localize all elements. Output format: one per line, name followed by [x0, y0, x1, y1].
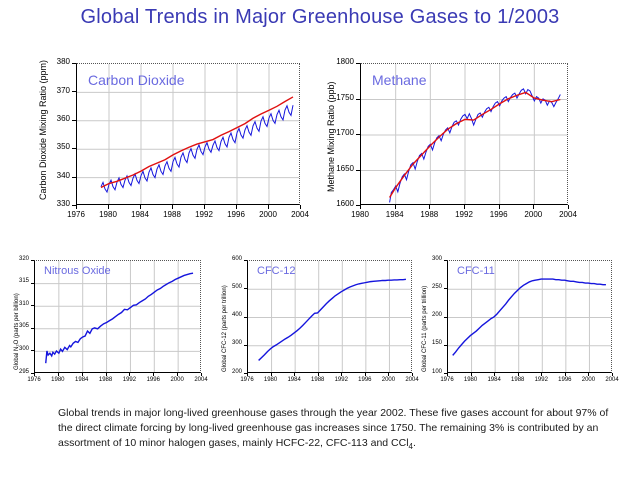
y-axis-label-cfc-11: Global CFC-11 (parts per trillion) — [422, 286, 428, 372]
x-tick-mark — [388, 373, 389, 376]
y-tick-label: 100 — [428, 369, 442, 375]
x-tick-label: 2000 — [250, 210, 286, 219]
series-label-cfc-11: CFC-11 — [457, 265, 495, 277]
y-tick-label: 360 — [50, 114, 70, 123]
x-tick-mark — [268, 205, 269, 209]
x-tick-mark — [395, 205, 396, 209]
x-tick-label: 1976 — [58, 210, 94, 219]
y-tick-label: 310 — [15, 301, 29, 307]
x-tick-mark — [464, 205, 465, 209]
x-tick-label: 1980 — [342, 210, 378, 219]
y-tick-label: 200 — [228, 369, 242, 375]
y-tick-mark — [444, 317, 447, 318]
x-tick-mark — [108, 205, 109, 209]
x-tick-mark — [236, 205, 237, 209]
y-tick-mark — [356, 63, 360, 64]
x-tick-mark — [494, 373, 495, 376]
y-tick-label: 320 — [15, 256, 29, 262]
x-tick-label: 1992 — [446, 210, 482, 219]
y-tick-mark — [72, 63, 76, 64]
y-tick-label: 600 — [228, 256, 242, 262]
y-tick-mark — [31, 260, 34, 261]
x-tick-mark — [318, 373, 319, 376]
caption-line-3-end: . — [413, 437, 416, 449]
x-tick-mark — [471, 373, 472, 376]
x-tick-mark — [499, 205, 500, 209]
x-tick-mark — [247, 373, 248, 376]
x-tick-mark — [172, 205, 173, 209]
page-title: Global Trends in Major Greenhouse Gases … — [0, 6, 640, 29]
y-tick-mark — [72, 177, 76, 178]
x-tick-mark — [533, 205, 534, 209]
y-tick-mark — [356, 170, 360, 171]
x-tick-mark — [140, 205, 141, 209]
x-tick-mark — [129, 373, 130, 376]
y-axis-label-cfc-12: Global CFC-12 (parts per trillion) — [222, 285, 228, 372]
y-tick-label: 330 — [50, 199, 70, 208]
y-tick-label: 1750 — [330, 93, 354, 102]
series-label-nitrous-oxide: Nitrous Oxide — [44, 265, 111, 277]
x-tick-mark — [294, 373, 295, 376]
x-tick-label: 1984 — [122, 210, 158, 219]
y-tick-mark — [31, 350, 34, 351]
series-label-cfc-12: CFC-12 — [257, 265, 296, 277]
y-tick-mark — [244, 288, 247, 289]
y-tick-label: 300 — [228, 340, 242, 346]
x-tick-mark — [565, 373, 566, 376]
x-tick-mark — [58, 373, 59, 376]
y-tick-mark — [31, 283, 34, 284]
x-tick-mark — [300, 205, 301, 209]
x-tick-label: 2000 — [515, 210, 551, 219]
x-tick-mark — [271, 373, 272, 376]
x-tick-mark — [82, 373, 83, 376]
x-tick-label: 2004 — [594, 377, 630, 383]
x-tick-mark — [76, 205, 77, 209]
y-tick-mark — [444, 260, 447, 261]
x-tick-mark — [360, 205, 361, 209]
x-tick-label: 1996 — [218, 210, 254, 219]
y-tick-label: 350 — [50, 142, 70, 151]
y-tick-label: 300 — [15, 346, 29, 352]
x-tick-label: 2004 — [394, 377, 430, 383]
y-tick-mark — [444, 288, 447, 289]
x-tick-mark — [106, 373, 107, 376]
y-tick-label: 250 — [428, 284, 442, 290]
x-tick-label: 2004 — [282, 210, 318, 219]
x-tick-mark — [34, 373, 35, 376]
y-tick-mark — [244, 260, 247, 261]
x-tick-mark — [365, 373, 366, 376]
y-tick-label: 1800 — [330, 57, 354, 66]
y-tick-label: 1700 — [330, 128, 354, 137]
y-tick-mark — [31, 305, 34, 306]
y-tick-label: 1600 — [330, 199, 354, 208]
x-tick-label: 1992 — [186, 210, 222, 219]
y-tick-label: 305 — [15, 323, 29, 329]
y-tick-mark — [72, 91, 76, 92]
y-tick-mark — [244, 345, 247, 346]
y-axis-label-carbon-dioxide: Carbon Dioxide Mixing Ratio (ppm) — [38, 60, 48, 200]
x-tick-label: 1988 — [411, 210, 447, 219]
x-tick-mark — [541, 373, 542, 376]
y-tick-mark — [72, 120, 76, 121]
y-tick-label: 315 — [15, 278, 29, 284]
x-tick-mark — [153, 373, 154, 376]
y-tick-mark — [244, 317, 247, 318]
caption-line-1: Global trends in major long-lived greenh… — [58, 407, 573, 419]
x-tick-mark — [612, 373, 613, 376]
x-tick-mark — [177, 373, 178, 376]
y-tick-label: 400 — [228, 312, 242, 318]
x-tick-mark — [341, 373, 342, 376]
y-tick-mark — [356, 99, 360, 100]
y-tick-label: 295 — [15, 369, 29, 375]
y-tick-label: 200 — [428, 312, 442, 318]
x-tick-label: 1996 — [481, 210, 517, 219]
x-tick-mark — [204, 205, 205, 209]
x-tick-label: 1984 — [377, 210, 413, 219]
y-tick-label: 150 — [428, 340, 442, 346]
series-label-methane: Methane — [372, 72, 426, 88]
x-tick-mark — [568, 205, 569, 209]
x-tick-mark — [518, 373, 519, 376]
y-tick-mark — [72, 148, 76, 149]
y-tick-mark — [31, 328, 34, 329]
x-tick-mark — [588, 373, 589, 376]
x-tick-mark — [429, 205, 430, 209]
y-tick-label: 300 — [428, 256, 442, 262]
x-tick-mark — [412, 373, 413, 376]
y-tick-label: 380 — [50, 57, 70, 66]
x-tick-mark — [447, 373, 448, 376]
x-tick-label: 1988 — [154, 210, 190, 219]
figure-caption: Global trends in major long-lived greenh… — [58, 406, 624, 454]
y-tick-label: 370 — [50, 86, 70, 95]
series-label-carbon-dioxide: Carbon Dioxide — [88, 72, 185, 88]
y-tick-label: 340 — [50, 171, 70, 180]
y-tick-mark — [444, 345, 447, 346]
x-tick-label: 2004 — [183, 377, 219, 383]
y-tick-label: 1650 — [330, 164, 354, 173]
x-tick-label: 1980 — [90, 210, 126, 219]
x-tick-mark — [201, 373, 202, 376]
y-tick-mark — [356, 134, 360, 135]
y-tick-label: 500 — [228, 284, 242, 290]
x-tick-label: 2004 — [550, 210, 586, 219]
